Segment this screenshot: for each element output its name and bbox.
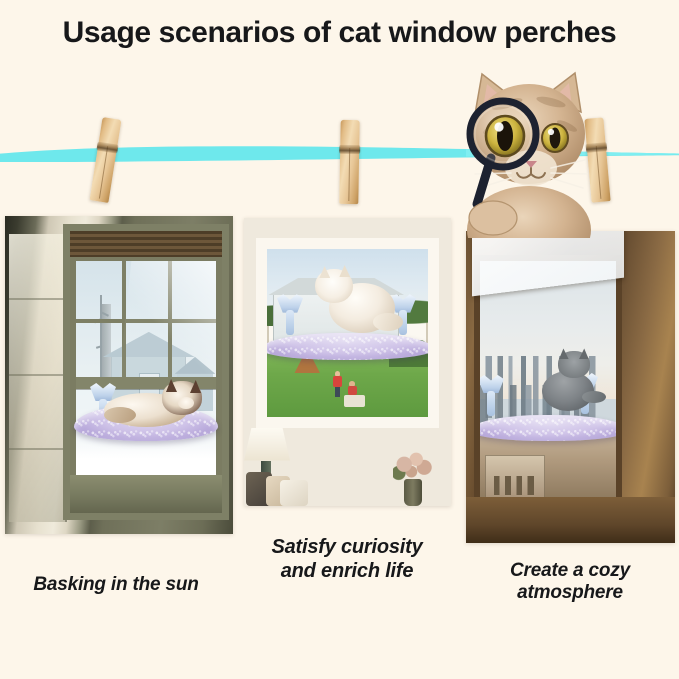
suburban-window-scene (244, 218, 451, 506)
window-sill (466, 497, 675, 543)
persian-cat (315, 269, 401, 331)
throw-pillows (246, 462, 308, 506)
poster-canvas: Usage scenarios of cat window perches (0, 0, 679, 679)
photo-cozy[interactable] (466, 231, 675, 543)
caption-curiosity: Satisfy curiosity and enrich life (240, 536, 454, 583)
window-glass (267, 249, 428, 417)
window-frame (256, 238, 439, 428)
caption-cozy-line2: atmosphere (462, 582, 678, 604)
window-sill (70, 475, 222, 513)
flowers (393, 450, 433, 481)
clothespin-center (339, 120, 359, 204)
caption-cozy-line1: Create a cozy (462, 560, 678, 582)
page-title: Usage scenarios of cat window perches (0, 16, 679, 50)
side-window-panel (9, 234, 67, 522)
vase-body (404, 479, 422, 506)
grey-shorthair-cat (540, 351, 598, 409)
flower-vase (393, 450, 433, 506)
caption-basking: Basking in the sun (8, 574, 224, 596)
perch-cushion (480, 415, 616, 441)
window-glass (480, 261, 616, 499)
caption-curiosity-line2: and enrich life (240, 560, 454, 584)
suction-mount (480, 375, 504, 415)
child-sitting (348, 381, 357, 400)
tabby-cat-with-magnifying-glass (455, 62, 611, 238)
city-window-scene (466, 231, 675, 543)
winter-window-scene (5, 216, 233, 534)
photo-curiosity[interactable] (244, 218, 451, 506)
window-frame (63, 224, 229, 520)
caption-cozy: Create a cozy atmosphere (462, 560, 678, 605)
lamp-shade (244, 428, 290, 461)
suction-mount (277, 294, 303, 334)
perch-cushion (267, 333, 428, 360)
caption-curiosity-line1: Satisfy curiosity (240, 536, 454, 560)
window-blind (70, 231, 222, 257)
ragdoll-cat (104, 381, 210, 427)
child-standing (333, 371, 342, 397)
window-mullion (76, 319, 216, 323)
photo-basking[interactable] (5, 216, 233, 534)
